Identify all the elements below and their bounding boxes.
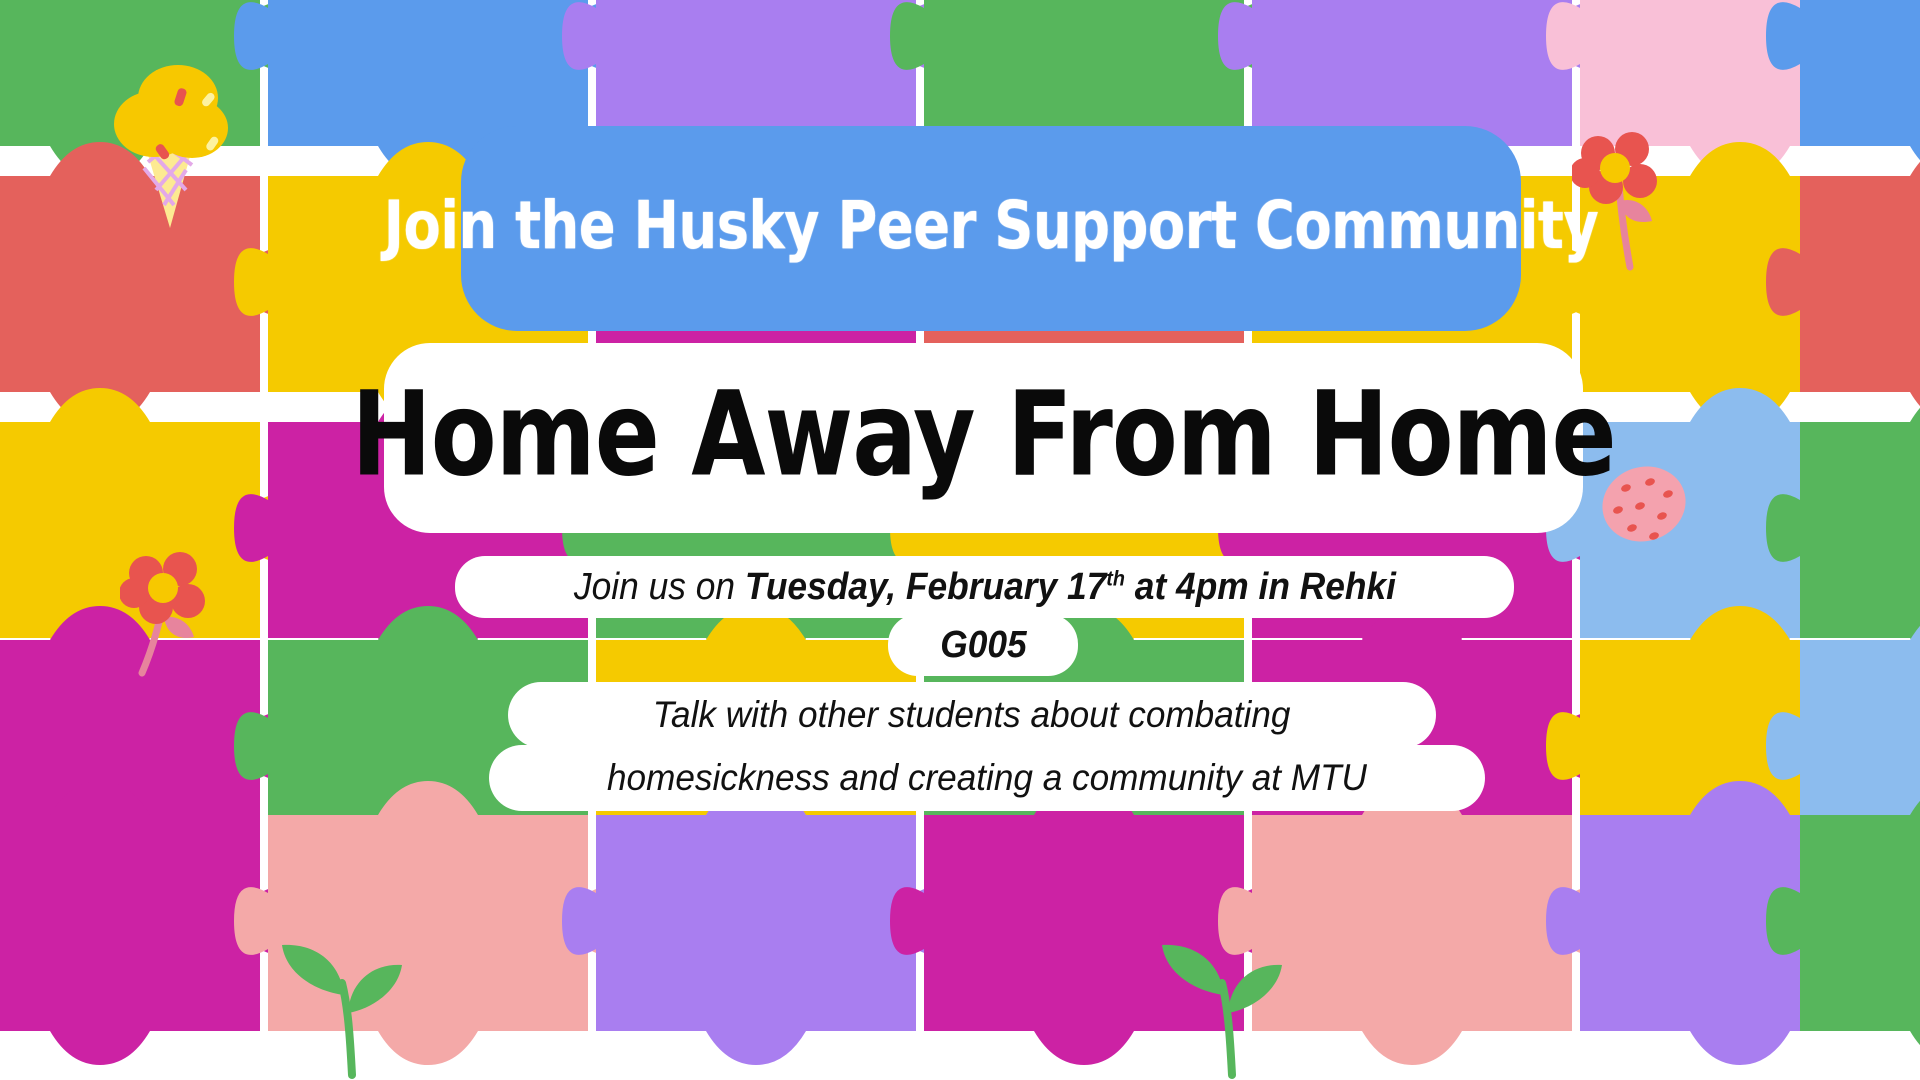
description-pill-line2: homesickness and creating a community at… (489, 745, 1485, 811)
description-line2: homesickness and creating a community at… (607, 757, 1367, 799)
details-date: Tuesday, February 17 (744, 566, 1105, 608)
event-details-line1: Join us on Tuesday, February 17th at 4pm… (573, 566, 1395, 609)
details-time-place: at 4pm in Rehki (1125, 566, 1396, 608)
page-title: Home Away From Home (351, 366, 1615, 510)
poster-canvas: Join the Husky Peer Support Community Ho… (0, 0, 1920, 1080)
description-line1: Talk with other students about combating (653, 694, 1291, 736)
event-room: G005 (940, 624, 1026, 667)
title-pill: Home Away From Home (384, 343, 1583, 533)
event-details-pill-line1: Join us on Tuesday, February 17th at 4pm… (455, 556, 1514, 618)
description-pill-line1: Talk with other students about combating (508, 682, 1436, 748)
details-ordinal: th (1106, 566, 1125, 590)
banner-pill: Join the Husky Peer Support Community (461, 126, 1521, 331)
details-prefix: Join us on (573, 566, 744, 608)
event-details-pill-line2: G005 (888, 614, 1078, 676)
room-number: G005 (940, 624, 1026, 666)
poster-content: Join the Husky Peer Support Community Ho… (0, 0, 1920, 1080)
banner-label: Join the Husky Peer Support Community (384, 188, 1599, 269)
